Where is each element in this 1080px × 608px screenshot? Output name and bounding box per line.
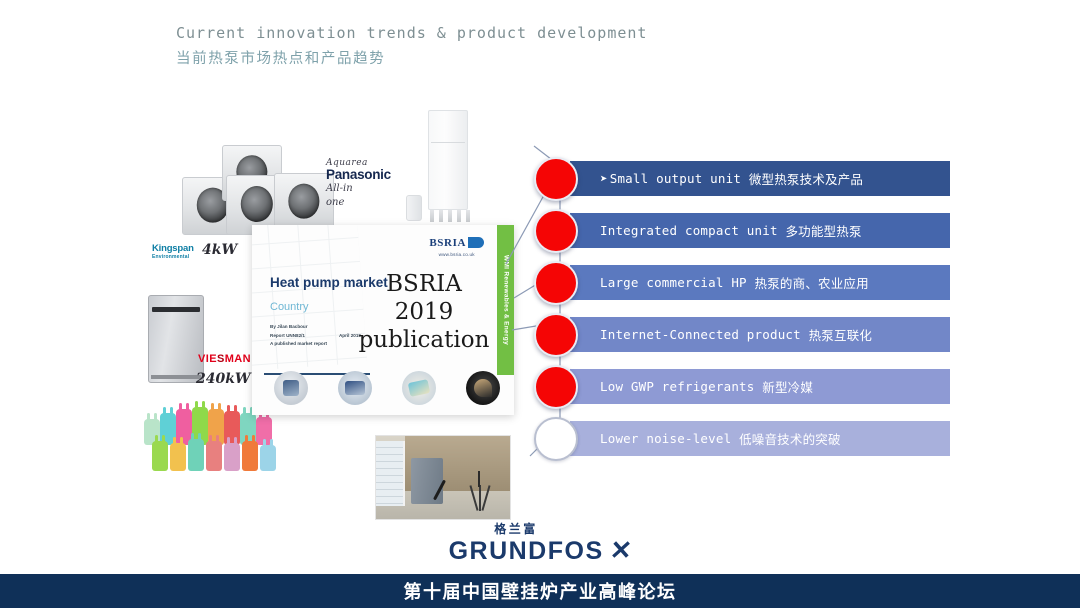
trend-bullet-dot[interactable] — [534, 209, 578, 253]
appliance-display — [152, 307, 200, 312]
list-item[interactable]: Low GWP refrigerants 新型冷媒 — [528, 363, 948, 415]
grundfos-logo: 格兰富 GRUNDFOS✕ — [0, 520, 1080, 566]
bsria-overlay-text: BSRIA 2019 publication — [358, 270, 490, 354]
list-item[interactable]: Internet-Connected product 热泵互联化 — [528, 311, 948, 363]
arrow-icon: ➤ — [600, 171, 608, 186]
trend-bar[interactable]: Large commercial HP 热泵的商、农业应用 — [570, 265, 950, 300]
list-item[interactable]: Integrated compact unit 多功能型热泵 — [528, 207, 948, 259]
thumbnail-strip — [266, 371, 500, 409]
trend-label-en: Lower noise-level — [600, 431, 731, 446]
trend-bar[interactable]: Lower noise-level 低噪音技术的突破 — [570, 421, 950, 456]
refrigerant-cylinder — [170, 443, 186, 471]
trend-bar[interactable]: Low GWP refrigerants 新型冷媒 — [570, 369, 950, 404]
list-item[interactable]: ➤Small output unit 微型热泵技术及产品 — [528, 155, 948, 207]
trend-label-cn: 新型冷媒 — [762, 377, 813, 396]
list-item[interactable]: Lower noise-level 低噪音技术的突破 — [528, 415, 948, 467]
thumbnail-photo — [466, 371, 500, 405]
footer-banner-text: 第十届中国壁挂炉产业高峰论坛 — [404, 578, 677, 604]
bsria-swoosh-icon — [468, 237, 484, 248]
refrigerant-cylinder — [188, 439, 204, 471]
thumbnail-photo — [338, 371, 372, 405]
trend-bullet-dot[interactable] — [534, 157, 578, 201]
indoor-cylinder-unit-photo — [428, 110, 468, 210]
refrigerant-cylinder — [152, 441, 168, 471]
refrigerant-cylinder — [224, 443, 240, 471]
trend-label-cn: 热泵的商、农业应用 — [755, 273, 869, 292]
bsria-logo: BSRIA www.bsria.co.uk — [429, 233, 484, 257]
grundfos-logo-en: GRUNDFOS — [449, 537, 604, 566]
trend-bullet-dot[interactable] — [534, 417, 578, 461]
viessmann-rating: 240kW — [196, 371, 251, 387]
list-item[interactable]: Large commercial HP 热泵的商、农业应用 — [528, 259, 948, 311]
viessmann-brand: VIESMAN — [198, 353, 251, 365]
trend-label-en: Internet-Connected product — [600, 327, 801, 342]
slide-root: Current innovation trends & product deve… — [0, 0, 1080, 608]
title-english: Current innovation trends & product deve… — [176, 24, 647, 42]
noise-test-photo — [375, 435, 511, 520]
trend-label-en: Large commercial HP — [600, 275, 747, 290]
viessmann-appliance-photo — [148, 295, 204, 383]
ac-unit — [274, 173, 334, 231]
bsria-author: By Jilan Bacbour — [270, 323, 361, 332]
trend-bullet-dot[interactable] — [534, 261, 578, 305]
trend-bar[interactable]: Internet-Connected product 热泵互联化 — [570, 317, 950, 352]
trend-label-en: Integrated compact unit — [600, 223, 778, 238]
small-tank-photo — [406, 195, 422, 221]
refrigerant-cylinder — [206, 441, 222, 471]
refrigerant-cylinder — [260, 445, 276, 471]
bsria-subheading: Country — [270, 301, 309, 313]
unit-pipes — [426, 208, 472, 222]
kingspan-rating: 4kW — [202, 242, 237, 258]
panasonic-brand: Panasonic — [326, 168, 422, 182]
trend-bar[interactable]: Integrated compact unit 多功能型热泵 — [570, 213, 950, 248]
bsria-note: A published market report — [270, 340, 361, 349]
trend-label-cn: 多功能型热泵 — [785, 221, 861, 240]
allin-text: All-in — [326, 182, 422, 196]
bsria-url: www.bsria.co.uk — [429, 252, 484, 257]
trend-bullet-dot[interactable] — [534, 365, 578, 409]
unit-seam — [431, 142, 466, 143]
footer-banner: 第十届中国壁挂炉产业高峰论坛 — [0, 574, 1080, 608]
kingspan-label: Kingspan Environmental — [152, 243, 194, 260]
trend-label-en: Small output unit — [610, 171, 741, 186]
title-chinese: 当前热泵市场热点和产品趋势 — [176, 47, 647, 68]
outdoor-ac-units-photo — [182, 143, 334, 235]
product-collage: Aquarea Panasonic All-in one Kingspan En… — [130, 95, 530, 515]
photo-window — [376, 441, 405, 506]
bsria-report-line: Report UNN82/1April 2019 — [270, 332, 361, 341]
trend-bullet-dot[interactable] — [534, 313, 578, 357]
kingspan-brand: Kingspan — [152, 243, 194, 254]
grundfos-logo-cn: 格兰富 — [0, 520, 1032, 537]
trend-label-cn: 热泵互联化 — [809, 325, 873, 344]
page-title: Current innovation trends & product deve… — [176, 24, 647, 68]
trend-list: ➤Small output unit 微型热泵技术及产品 Integrated … — [528, 155, 948, 467]
tripod-icon — [467, 461, 496, 511]
trend-label-en: Low GWP refrigerants — [600, 379, 755, 394]
trend-label-cn: 微型热泵技术及产品 — [749, 169, 863, 188]
grundfos-mark-icon: ✕ — [608, 535, 633, 566]
trend-label-cn: 低噪音技术的突破 — [739, 429, 841, 448]
thumbnail-photo — [402, 371, 436, 405]
bsria-logo-text: BSRIA — [429, 237, 466, 249]
appliance-base — [151, 375, 201, 379]
kingspan-sub: Environmental — [152, 254, 194, 260]
trend-bar[interactable]: ➤Small output unit 微型热泵技术及产品 — [570, 161, 950, 196]
refrigerant-cylinder — [242, 441, 258, 471]
photo-heat-pump — [411, 458, 443, 504]
thumbnail-photo — [274, 371, 308, 405]
bsria-meta: By Jilan Bacbour Report UNN82/1April 201… — [270, 323, 361, 349]
